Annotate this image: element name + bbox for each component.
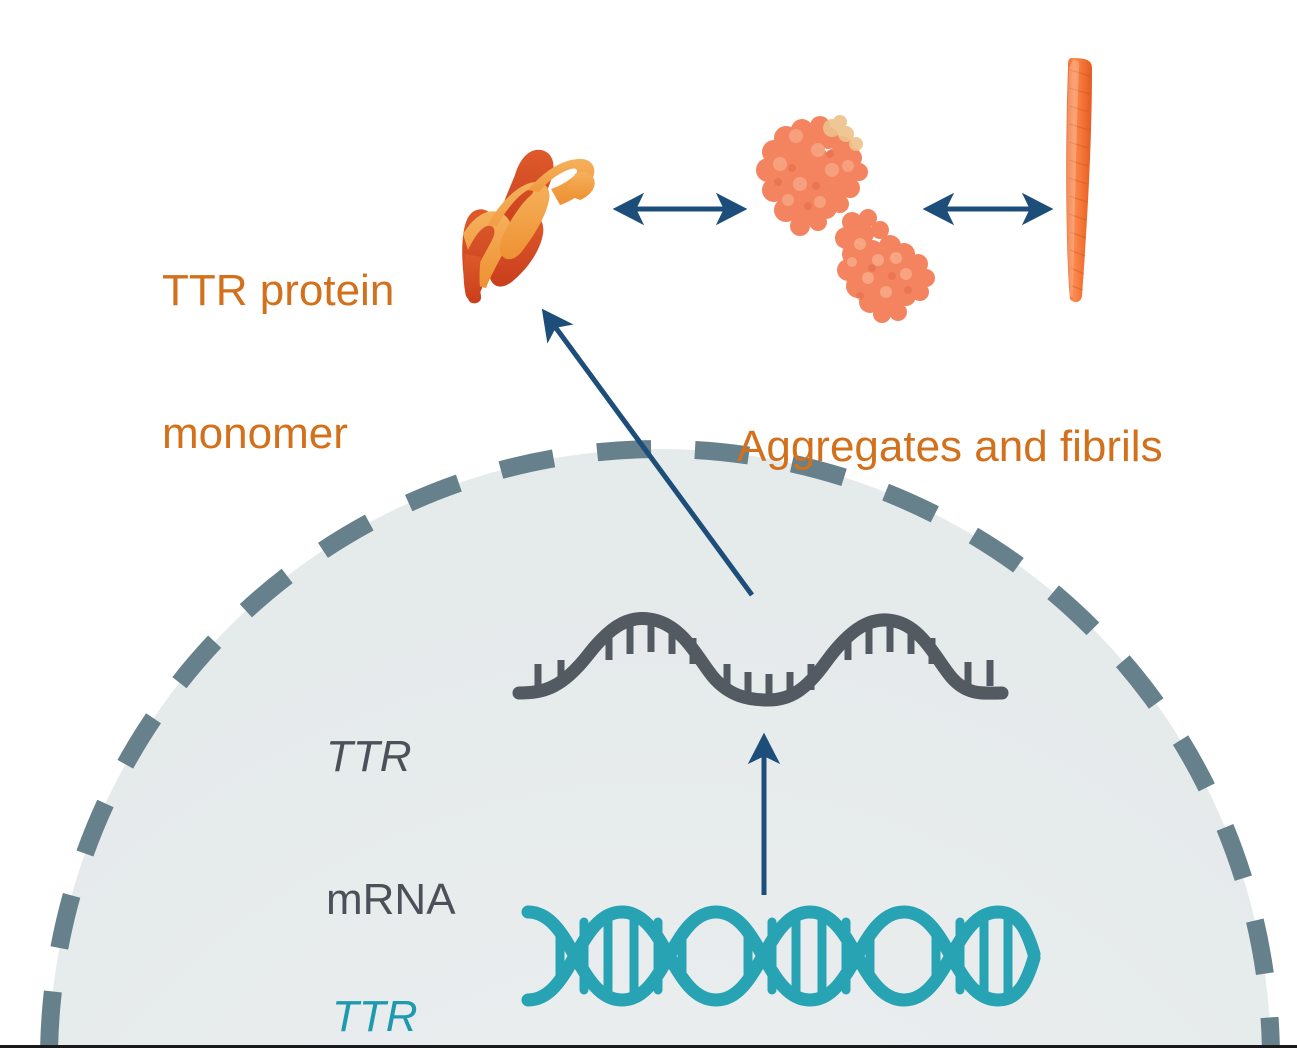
label-aggregates-and-fibrils: Aggregates and fibrils	[737, 328, 1163, 566]
label-ttr-protein-monomer: TTR protein monomer	[162, 172, 394, 552]
label-ttr-gene: TTR gene	[332, 898, 430, 1048]
label-monomer-line2: monomer	[162, 410, 394, 458]
label-mrna-gene-italic: TTR	[326, 733, 456, 781]
aggregate-cluster-icon	[835, 209, 935, 323]
label-aggregates-line1: Aggregates and fibrils	[737, 423, 1163, 471]
label-monomer-line1: TTR protein	[162, 267, 394, 315]
figure-canvas: TTR protein monomer Aggregates and fibri…	[0, 0, 1297, 1048]
label-gene-italic: TTR	[332, 993, 430, 1041]
amyloid-fibril-icon	[1066, 58, 1092, 302]
